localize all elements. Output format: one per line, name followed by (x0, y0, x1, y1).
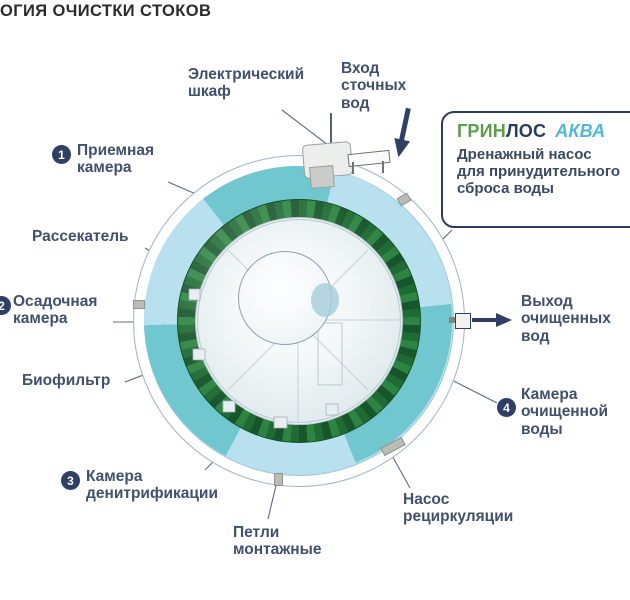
brand-part-grin: ГРИН (457, 121, 506, 141)
side-nub-left (133, 300, 145, 309)
biofilter-modules (133, 155, 463, 485)
electric-cabinet-base (309, 165, 335, 189)
brand-description: Дренажный насос для принудительного сбро… (457, 146, 630, 197)
badge-clean-water-chamber: 4 (497, 398, 516, 417)
outlet-nozzle (455, 313, 471, 329)
inlet-leg-right (382, 161, 384, 173)
label-settling-chamber: Осадочная камера (13, 293, 97, 328)
diagram-canvas: ЛОГИЯ ОЧИСТКИ СТОКОВ (0, 0, 630, 600)
label-recirculation-pump: Насос рециркуляции (403, 491, 513, 526)
inlet-leg-left (352, 162, 354, 174)
label-receiving-chamber: Приемная камера (77, 142, 154, 177)
treatment-plant-diagram (133, 155, 463, 485)
badge-receiving-chamber: 1 (52, 145, 71, 164)
label-outlet: Выход очищенных вод (521, 293, 611, 345)
inlet-arrow-icon (390, 108, 420, 166)
label-clean-water-chamber: Камера очищенной воды (521, 386, 608, 438)
brand-callout-box: ГРИНЛОСАКВА Дренажный насос для принудит… (441, 111, 630, 228)
brand-part-akva: АКВА (555, 121, 605, 141)
brand-logo: ГРИНЛОСАКВА (457, 121, 630, 142)
label-inlet: Вход сточных вод (341, 60, 406, 112)
label-electric-cabinet: Электрический шкаф (188, 66, 304, 101)
badge-denitrification-chamber: 3 (61, 471, 80, 490)
outlet-arrow-icon (472, 312, 517, 332)
label-mounting-loops: Петли монтажные (233, 524, 322, 559)
mounting-loop-bottom (274, 473, 283, 486)
brand-part-los: ЛОС (506, 121, 546, 141)
label-biofilter: Биофильтр (22, 372, 110, 389)
label-denitrification-chamber: Камера денитрификации (86, 468, 218, 503)
label-distributor: Рассекатель (32, 228, 129, 245)
